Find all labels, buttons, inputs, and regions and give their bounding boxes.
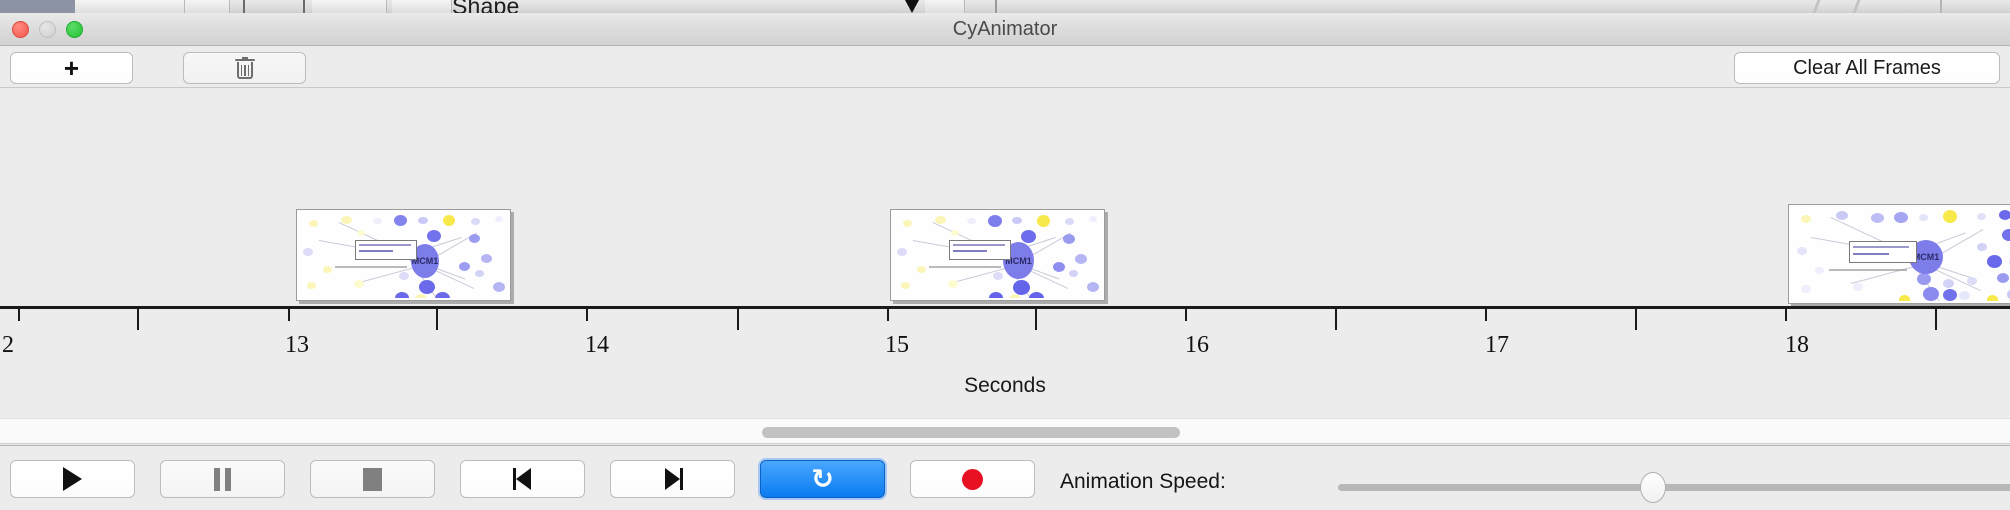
keyframe-network-preview: MCM1: [299, 212, 508, 298]
clear-all-frames-label: Clear All Frames: [1793, 57, 1941, 80]
background-window-strip: Shape: [0, 0, 2010, 13]
horizontal-scrollbar-track[interactable]: [0, 418, 2010, 444]
animation-speed-slider-track[interactable]: [1338, 484, 2010, 491]
stop-button[interactable]: [310, 460, 435, 498]
ruler-tick-minor: [586, 309, 588, 321]
ruler-tick-minor: [1785, 309, 1787, 321]
timeline-ruler[interactable]: 2 13 14 15 16 17 18 Seconds: [0, 306, 2010, 418]
ruler-label: 2: [2, 332, 14, 359]
plus-icon: +: [64, 55, 79, 81]
clear-all-frames-button[interactable]: Clear All Frames: [1734, 52, 2000, 84]
timeline-panel[interactable]: MCM1: [0, 88, 2010, 418]
delete-frame-button[interactable]: [183, 52, 306, 84]
keyframe-thumbnail[interactable]: MCM1: [1788, 204, 2010, 304]
ruler-label: 18: [1785, 332, 1809, 359]
stop-icon: [363, 468, 382, 491]
ruler-label: 15: [885, 332, 909, 359]
trash-icon: [235, 57, 255, 80]
background-window-label: Shape: [452, 0, 520, 13]
animation-speed-label: Animation Speed:: [1060, 470, 1226, 494]
ruler-label: 13: [285, 332, 309, 359]
ruler-tick-major: [1935, 309, 1937, 330]
next-frame-button[interactable]: [610, 460, 735, 498]
ruler-tick-minor: [288, 309, 290, 321]
window-title: CyAnimator: [0, 13, 2010, 46]
play-icon: [63, 467, 82, 491]
background-marker-icon: [905, 0, 919, 13]
ruler-label: 14: [585, 332, 609, 359]
ruler-tick-major: [1035, 309, 1037, 330]
ruler-tick-minor: [1485, 309, 1487, 321]
add-frame-button[interactable]: +: [10, 52, 133, 84]
keyframe-thumbnail[interactable]: MCM1: [890, 209, 1105, 301]
ruler-label: 16: [1185, 332, 1209, 359]
cyanimator-window: Shape CyAnimator + Clear All: [0, 0, 2010, 510]
playback-control-bar: ↻ Animation Speed:: [0, 445, 2010, 510]
horizontal-scrollbar-thumb[interactable]: [762, 427, 1180, 438]
play-button[interactable]: [10, 460, 135, 498]
keyframe-network-preview: MCM1: [893, 212, 1102, 298]
ruler-label: 17: [1485, 332, 1509, 359]
ruler-baseline: [0, 306, 2010, 309]
pause-button[interactable]: [160, 460, 285, 498]
record-icon: [962, 469, 983, 490]
title-bar: CyAnimator: [0, 13, 2010, 46]
ruler-tick-major: [436, 309, 438, 330]
frame-toolbar: + Clear All Frames: [0, 46, 2010, 88]
ruler-tick-major: [137, 309, 139, 330]
axis-title-seconds: Seconds: [0, 374, 2010, 398]
skip-back-icon: [511, 467, 535, 491]
ruler-tick-major: [737, 309, 739, 330]
animation-speed-slider-knob[interactable]: [1640, 472, 1666, 503]
ruler-tick-minor: [887, 309, 889, 321]
ruler-tick-minor: [1185, 309, 1187, 321]
record-button[interactable]: [910, 460, 1035, 498]
ruler-tick-minor: [18, 309, 20, 321]
loop-icon: ↻: [811, 466, 834, 493]
previous-frame-button[interactable]: [460, 460, 585, 498]
keyframe-thumbnail[interactable]: MCM1: [296, 209, 511, 301]
keyframe-network-preview: MCM1: [1791, 207, 2010, 301]
loop-button[interactable]: ↻: [760, 460, 885, 498]
ruler-tick-major: [1635, 309, 1637, 330]
pause-icon: [214, 468, 231, 491]
skip-forward-icon: [661, 467, 685, 491]
ruler-tick-major: [1335, 309, 1337, 330]
